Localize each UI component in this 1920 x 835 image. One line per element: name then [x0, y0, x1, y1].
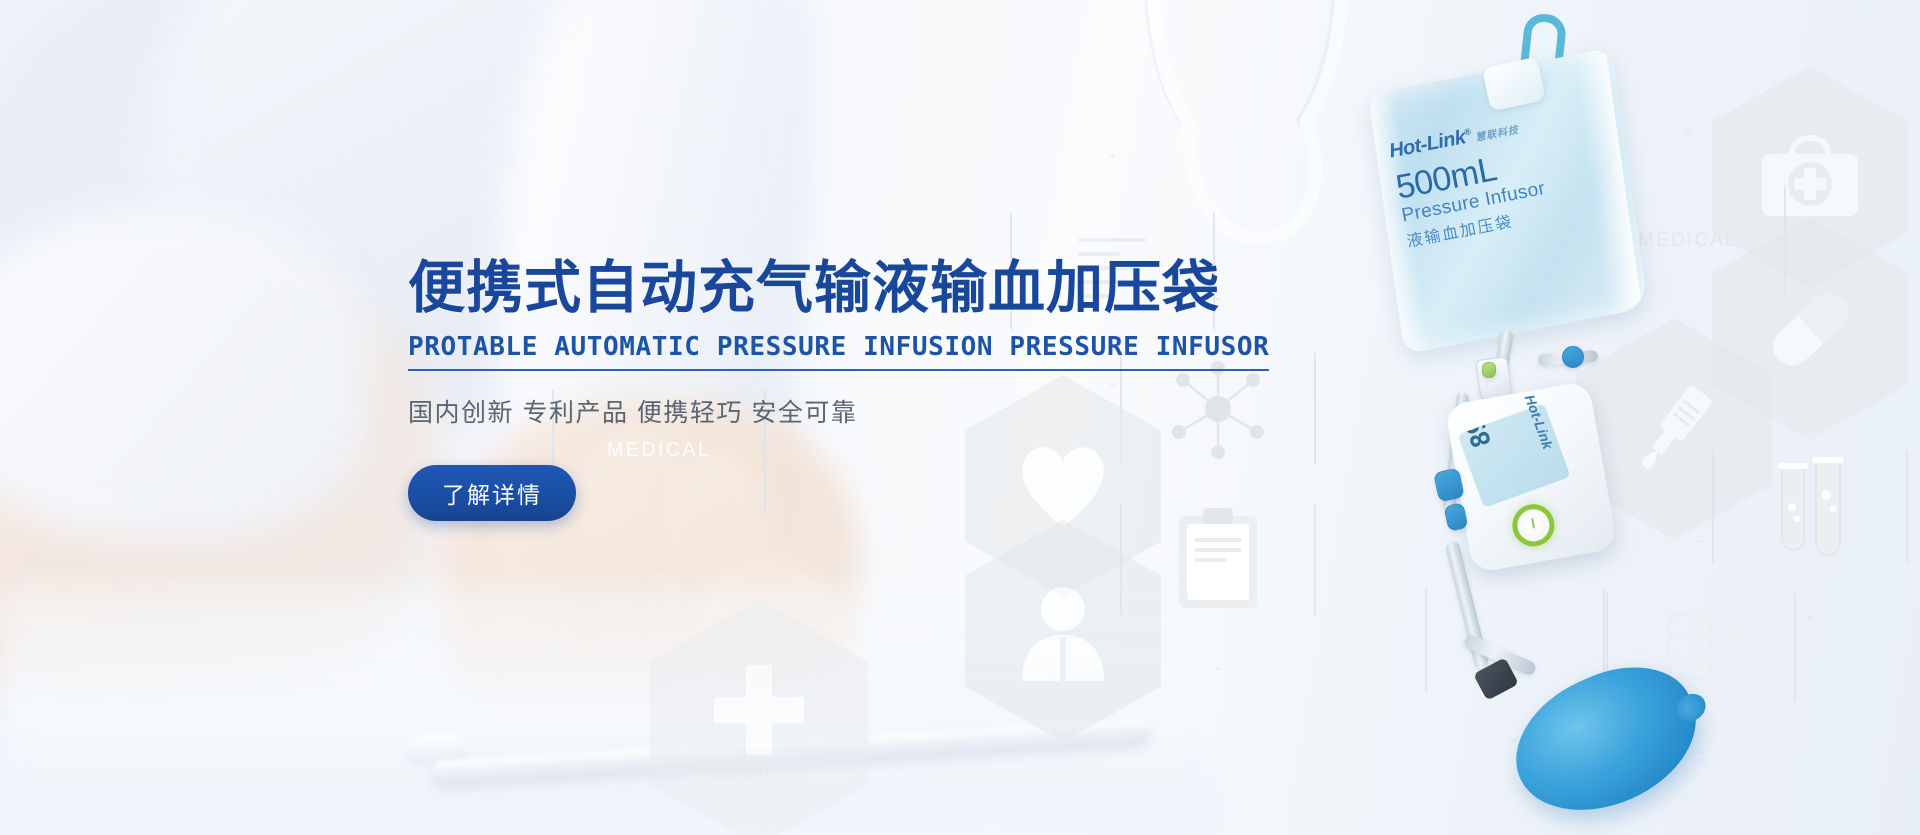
page-subtitle: PROTABLE AUTOMATIC PRESSURE INFUSION PRE…: [408, 332, 1269, 371]
valve-blue: [1562, 346, 1584, 368]
bag-brand-cn: 慧联科技: [1475, 125, 1520, 144]
device-reading: 8982: [1457, 403, 1498, 451]
product-hero-banner: MEDICAL MEDICAL MEDICAL: [0, 0, 1920, 835]
hexagon-medical-text: MEDICAL: [714, 765, 805, 785]
page-tagline: 国内创新 专利产品 便携轻巧 安全可靠: [408, 393, 1238, 429]
clipboard-icon: [1175, 506, 1261, 612]
product-image: Hot-Link®慧联科技 500mL Pressure Infusor 液输血…: [1300, 0, 1920, 835]
medical-cross-icon: [710, 661, 808, 759]
doctor-person-icon: [1016, 581, 1110, 681]
registered-mark: ®: [1463, 126, 1471, 137]
hero-copy: 便携式自动充气输液输血加压袋 PROTABLE AUTOMATIC PRESSU…: [408, 258, 1238, 521]
learn-more-button[interactable]: 了解详情: [408, 465, 576, 521]
power-button[interactable]: [1509, 501, 1558, 550]
device-lcd-screen: 8982: [1457, 403, 1570, 508]
page-title: 便携式自动充气输液输血加压袋: [408, 258, 1238, 318]
valve-green: [1482, 362, 1496, 378]
pressure-controller-device: 8982 Hot-Link: [1444, 381, 1617, 574]
hexagon-medical-cross: MEDICAL: [650, 600, 868, 835]
